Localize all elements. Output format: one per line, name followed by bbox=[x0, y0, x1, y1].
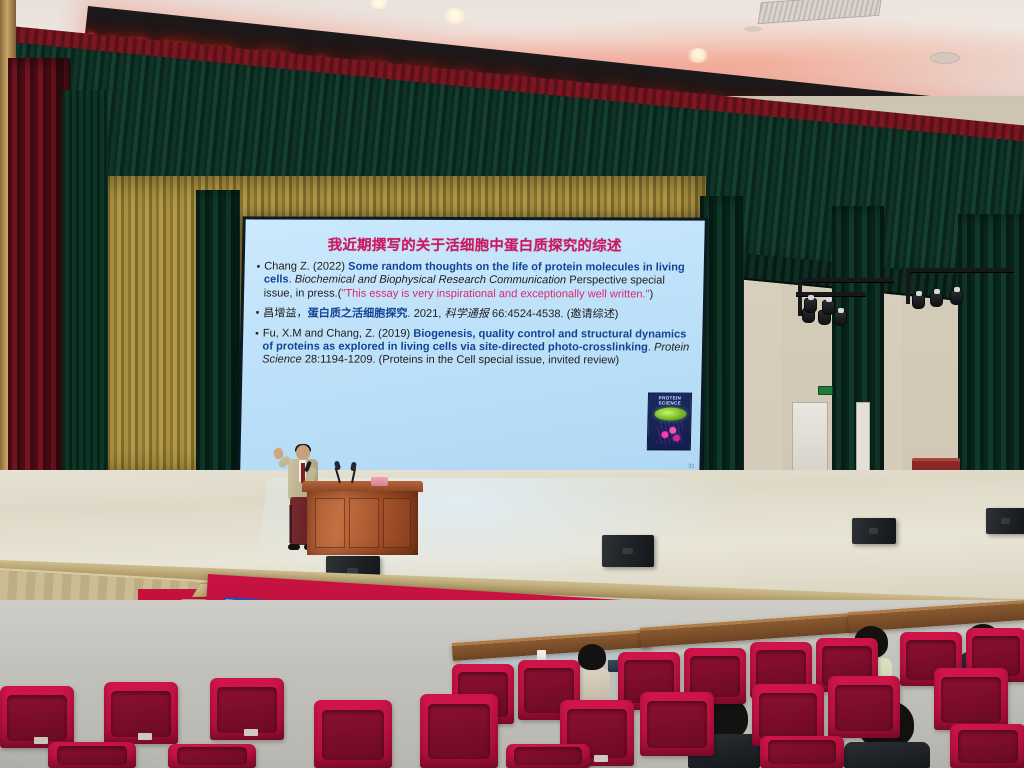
auditorium-seat[interactable] bbox=[950, 724, 1024, 768]
seat-number-tag bbox=[138, 733, 152, 740]
auditorium-seat[interactable] bbox=[314, 700, 392, 768]
auditorium-seat[interactable] bbox=[210, 678, 284, 740]
seat-cushion bbox=[428, 704, 490, 759]
exit-sign bbox=[818, 386, 833, 395]
bullet-marker: ▪ bbox=[255, 327, 259, 340]
desk-item bbox=[371, 477, 388, 486]
journal-cover-artwork-detail bbox=[657, 421, 683, 443]
wooden-lectern bbox=[305, 481, 420, 555]
lectern-panel bbox=[315, 498, 345, 548]
list-item: ▪ Chang Z. (2022) Some random thoughts o… bbox=[256, 260, 696, 301]
seat-number-tag bbox=[594, 755, 608, 762]
auditorium-seat[interactable] bbox=[420, 694, 498, 768]
presenter-head bbox=[296, 445, 310, 460]
stage-spotlight bbox=[804, 298, 817, 313]
seat-cushion bbox=[759, 693, 817, 739]
seat-cushion bbox=[768, 740, 835, 764]
auditorium-seat[interactable] bbox=[104, 682, 178, 744]
stage-spotlight bbox=[930, 292, 943, 307]
stage-spotlight bbox=[822, 300, 835, 315]
auditorium-seat[interactable] bbox=[760, 736, 844, 768]
ceiling-downlight bbox=[686, 48, 710, 63]
auditorium-seat[interactable] bbox=[48, 742, 136, 768]
bullet-text-1: Chang Z. (2022) Some random thoughts on … bbox=[263, 260, 695, 301]
seat-cushion bbox=[958, 730, 1019, 763]
auditorium-seat[interactable] bbox=[168, 744, 256, 768]
bullet-text-2: 昌增益，蛋白质之活细胞探究. 2021, 科学通报 66:4524-4538. … bbox=[263, 307, 619, 322]
stage-spotlight bbox=[950, 290, 963, 305]
seat-cushion bbox=[941, 677, 1000, 723]
bullet-marker: ▪ bbox=[257, 260, 261, 273]
seat-cushion bbox=[322, 710, 384, 760]
bullet-text-3: Fu, X.M and Chang, Z. (2019) Biogenesis,… bbox=[262, 327, 694, 368]
slide-bullet-list: ▪ Chang Z. (2022) Some random thoughts o… bbox=[254, 260, 695, 368]
seat-cushion bbox=[514, 747, 581, 765]
auditorium-seat[interactable] bbox=[640, 692, 714, 756]
lectern-panel bbox=[383, 498, 411, 548]
stage-monitor-speaker bbox=[602, 535, 654, 567]
auditorium-scene: 通过活细胞蛋白质探究意外发现复苏延迟体学术讲座 bbox=[0, 0, 1024, 768]
seat-cushion bbox=[111, 691, 170, 737]
truss-upright bbox=[906, 268, 910, 304]
audience-member-head bbox=[578, 644, 606, 670]
auditorium-seat[interactable] bbox=[828, 676, 900, 738]
truss-bar bbox=[906, 268, 1014, 272]
stage-spotlight bbox=[834, 311, 847, 326]
stage-monitor-speaker bbox=[852, 518, 896, 544]
seat-number-tag bbox=[34, 737, 48, 744]
projection-screen: 我近期撰写的关于活细胞中蛋白质探究的综述 ▪ Chang Z. (2022) S… bbox=[237, 216, 708, 475]
auditorium-seat[interactable] bbox=[506, 744, 590, 768]
seat-cushion bbox=[7, 695, 66, 741]
seat-cushion bbox=[57, 746, 127, 765]
presenter-shoe bbox=[288, 544, 300, 550]
truss-bar bbox=[798, 278, 894, 282]
audience-member bbox=[844, 742, 930, 768]
seat-cushion bbox=[647, 701, 706, 748]
bullet-marker: ▪ bbox=[256, 307, 260, 320]
auditorium-seat[interactable] bbox=[934, 668, 1008, 730]
presenter-leg-seam bbox=[289, 505, 292, 543]
protein-science-cover: PROTEIN SCIENCE bbox=[647, 392, 692, 450]
list-item: ▪ Fu, X.M and Chang, Z. (2019) Biogenesi… bbox=[254, 327, 694, 368]
ceiling-downlight bbox=[442, 8, 468, 24]
seat-cushion bbox=[217, 687, 276, 733]
slide-title: 我近期撰写的关于活细胞中蛋白质探究的综述 bbox=[253, 233, 697, 255]
stage-monitor-speaker bbox=[986, 508, 1024, 534]
lectern-body bbox=[307, 491, 418, 555]
ceiling-fixture bbox=[744, 26, 762, 32]
journal-cover-artwork bbox=[654, 407, 686, 420]
auditorium-seat[interactable] bbox=[0, 686, 74, 748]
seat-cushion bbox=[835, 685, 893, 731]
lectern-panel bbox=[349, 498, 379, 548]
list-item: ▪ 昌增益，蛋白质之活细胞探究. 2021, 科学通报 66:4524-4538… bbox=[255, 307, 694, 323]
seat-number-tag bbox=[244, 729, 258, 736]
truss-bar bbox=[796, 292, 866, 296]
journal-cover-title: PROTEIN SCIENCE bbox=[649, 395, 691, 405]
seat-cushion bbox=[177, 747, 247, 765]
green-stage-drape bbox=[196, 190, 240, 490]
stage-spotlight bbox=[912, 294, 925, 309]
slide-page-number: 31 bbox=[688, 464, 694, 470]
ceiling-fixture bbox=[930, 52, 960, 64]
presentation-slide: 我近期撰写的关于活细胞中蛋白质探究的综述 ▪ Chang Z. (2022) S… bbox=[240, 219, 705, 472]
